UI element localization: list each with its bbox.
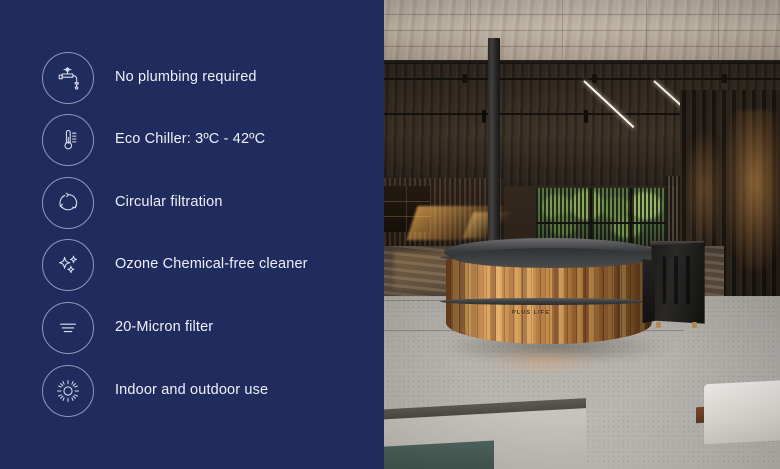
feature-label: No plumbing required xyxy=(115,69,257,86)
feature-panel: No plumbing required Eco Chiller: 3ºC - xyxy=(0,0,384,469)
lighting-track xyxy=(384,78,780,80)
feature-list: No plumbing required Eco Chiller: 3ºC - xyxy=(0,0,384,469)
ceiling-seam xyxy=(646,0,647,62)
wall-sunlight xyxy=(684,128,724,248)
chiller-door xyxy=(643,259,655,323)
promo-banner: No plumbing required Eco Chiller: 3ºC - xyxy=(0,0,780,469)
caster-wheel xyxy=(656,322,661,328)
wall-sunlight xyxy=(724,110,780,270)
sun-icon xyxy=(42,365,94,417)
chiller-unit xyxy=(642,244,704,330)
chiller-cabinet xyxy=(651,242,704,323)
daybed-mattress xyxy=(704,380,780,445)
ceiling-plank-line xyxy=(384,46,780,47)
feature-item-no-plumbing: No plumbing required xyxy=(42,52,372,104)
feature-item-micron-filter: 20-Micron filter xyxy=(42,302,372,354)
tub-rim xyxy=(444,238,654,266)
feature-label: Indoor and outdoor use xyxy=(115,382,268,399)
faucet-icon xyxy=(42,52,94,104)
track-light-head xyxy=(592,74,597,83)
feature-item-circular-filtration: Circular filtration xyxy=(42,177,372,229)
product-photo: PLUS LIFE xyxy=(384,0,780,469)
thermometer-icon xyxy=(42,114,94,166)
circular-arrow-icon xyxy=(42,177,94,229)
chimney-flue xyxy=(488,38,500,256)
tub-water-surface xyxy=(454,248,652,268)
feature-item-ozone-cleaner: Ozone Chemical-free cleaner xyxy=(42,239,372,291)
caster-wheel xyxy=(692,322,697,328)
ceiling-seam xyxy=(718,0,719,62)
tub-band xyxy=(440,298,646,305)
feature-item-eco-chiller: Eco Chiller: 3ºC - 42ºC xyxy=(42,114,372,166)
hot-tub: PLUS LIFE xyxy=(440,232,658,350)
feature-item-indoor-outdoor: Indoor and outdoor use xyxy=(42,365,372,417)
feature-label: 20-Micron filter xyxy=(115,319,213,336)
pool-water xyxy=(384,440,494,469)
tub-brand-label: PLUS LIFE xyxy=(512,310,550,316)
spotlight-head xyxy=(482,110,486,123)
warm-reflection xyxy=(484,346,604,376)
window-mullion xyxy=(536,222,666,224)
spotlight-head xyxy=(584,110,588,123)
track-light-head xyxy=(462,74,467,83)
feature-label: Eco Chiller: 3ºC - 42ºC xyxy=(115,131,265,148)
feature-label: Ozone Chemical-free cleaner xyxy=(115,256,308,273)
ceiling-plank-line xyxy=(384,30,780,31)
lighting-track xyxy=(384,113,714,115)
sparkle-icon xyxy=(42,239,94,291)
ceiling-soffit xyxy=(384,0,780,62)
ceiling-seam xyxy=(562,0,563,62)
track-light-head xyxy=(722,74,727,83)
filter-lines-icon xyxy=(42,302,94,354)
ceiling-seam xyxy=(470,0,471,62)
ceiling-plank-line xyxy=(384,14,780,15)
feature-label: Circular filtration xyxy=(115,194,223,211)
